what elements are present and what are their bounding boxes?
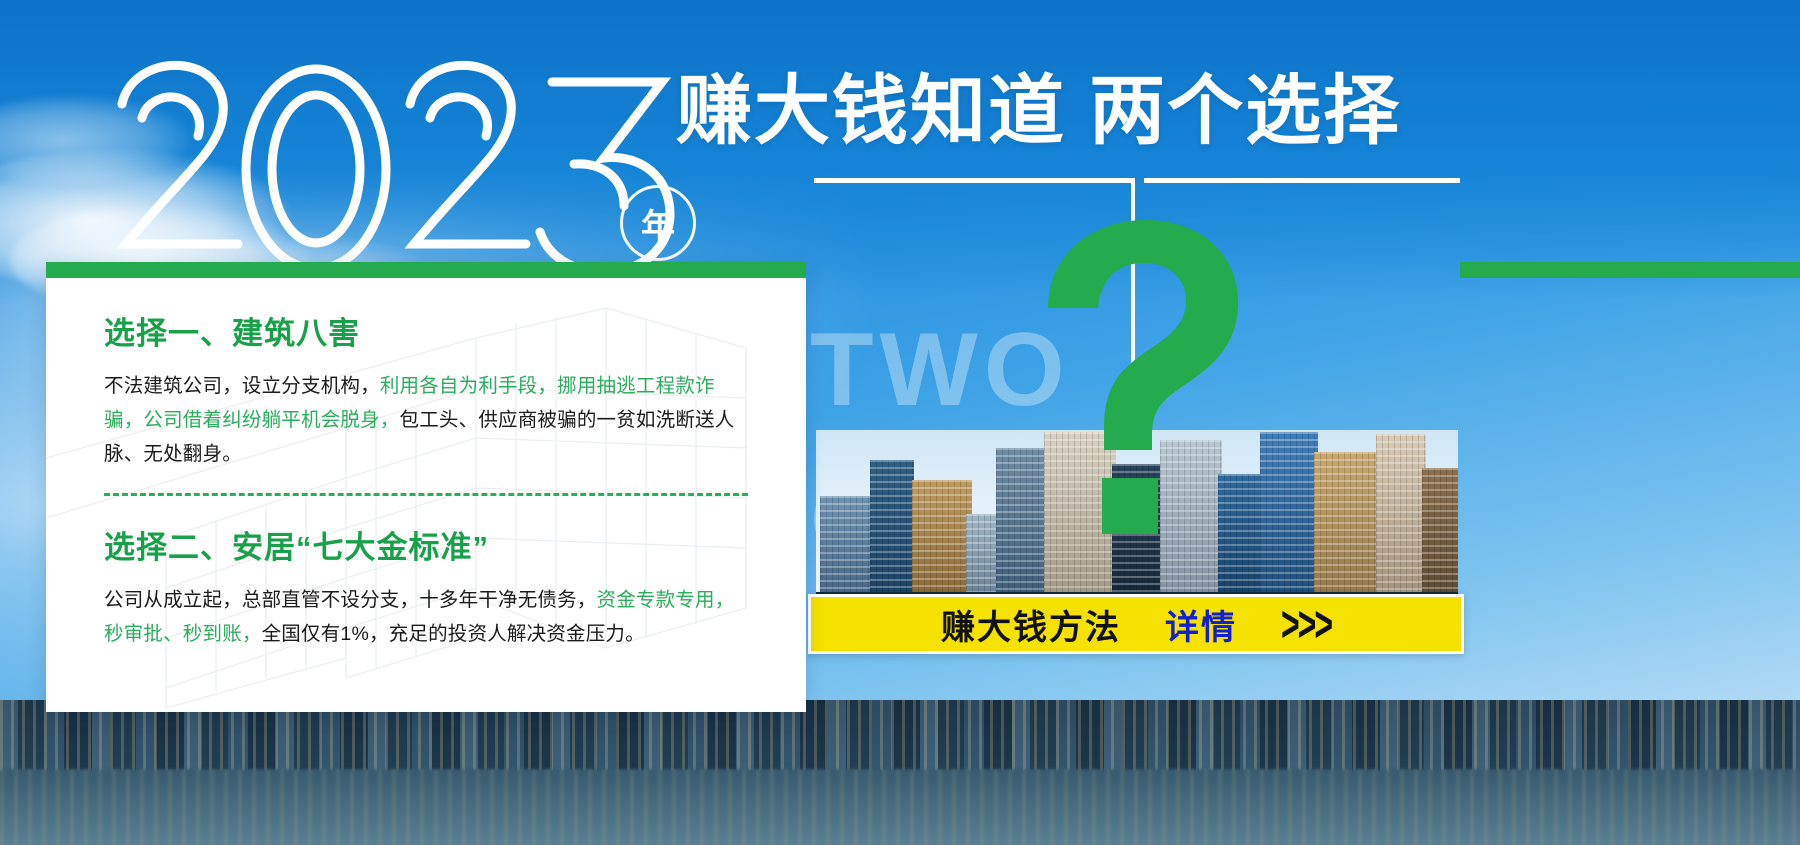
building-shape (1422, 468, 1458, 592)
bottom-cityscape-strip (0, 700, 1800, 845)
section-two: 选择二、安居“七大金标准” 公司从成立起，总部直管不设分支，十多年干净无债务，资… (104, 522, 748, 651)
headline-rule-left (814, 178, 1132, 183)
cityscape-photo (816, 430, 1458, 595)
section-divider (104, 493, 748, 496)
section-one: 选择一、建筑八害 不法建筑公司，设立分支机构，利用各自为利手段，挪用抽逃工程款诈… (104, 308, 748, 471)
section-two-body: 公司从成立起，总部直管不设分支，十多年干净无债务，资金专款专用，秒审批、秒到账，… (104, 583, 748, 651)
cta-button[interactable]: 赚大钱方法 详情 >>> (808, 594, 1464, 654)
body-text-plain: 公司从成立起，总部直管不设分支，十多年干净无债务， (104, 589, 597, 611)
section-one-title: 选择一、建筑八害 (104, 308, 748, 353)
building-shape (1112, 464, 1164, 592)
card-content: 选择一、建筑八害 不法建筑公司，设立分支机构，利用各自为利手段，挪用抽逃工程款诈… (46, 262, 806, 651)
page-title: 赚大钱知道 两个选择 (676, 72, 1401, 152)
building-shape (966, 514, 1000, 592)
cta-detail-link[interactable]: 详情 (1165, 600, 1237, 649)
year-suffix-badge: 年 (620, 185, 696, 261)
body-text-plain: 不法建筑公司，设立分支机构， (104, 375, 380, 397)
building-shape (1376, 434, 1426, 592)
section-one-body: 不法建筑公司，设立分支机构，利用各自为利手段，挪用抽逃工程款诈骗，公司借着纠纷躺… (104, 369, 748, 471)
content-card: 选择一、建筑八害 不法建筑公司，设立分支机构，利用各自为利手段，挪用抽逃工程款诈… (46, 262, 806, 712)
poster-root: 年 赚大钱知道 两个选择 TWO CHOICES 赚大钱方法 详情 >>> (0, 0, 1800, 845)
building-shape (912, 480, 972, 592)
building-shape (1218, 474, 1264, 592)
section-two-title: 选择二、安居“七大金标准” (104, 522, 748, 567)
building-shape (1314, 452, 1380, 592)
green-accent-bar (1460, 262, 1800, 278)
headline-rule-right (1144, 178, 1460, 183)
building-shape (820, 496, 876, 592)
building-shape (1160, 440, 1222, 592)
building-shape (996, 448, 1048, 592)
building-shape (870, 460, 914, 592)
building-shape (1044, 432, 1116, 592)
body-text-plain: 全国仅有1%，充足的投资人解决资金压力。 (262, 623, 645, 645)
cta-label: 赚大钱方法 (941, 600, 1121, 649)
building-shape (1260, 432, 1318, 592)
chevron-right-icon: >>> (1281, 606, 1331, 643)
strip-water-reflection (0, 769, 1800, 845)
